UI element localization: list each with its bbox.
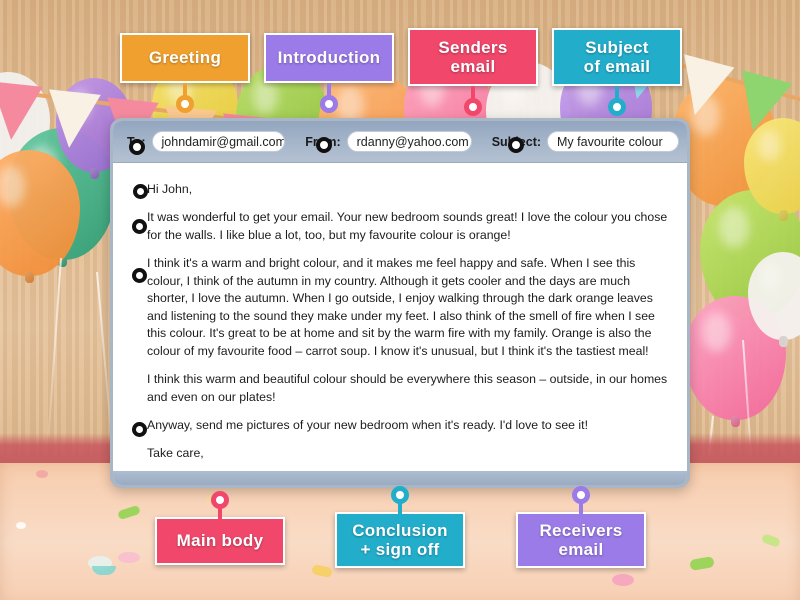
email-conclusion-text: I think this warm and beautiful colour s… — [147, 371, 673, 406]
pin-knob — [320, 95, 338, 113]
drop-target-to-field[interactable] — [129, 139, 145, 155]
label-chip-senders-email[interactable]: Sendersemail — [408, 28, 538, 86]
drop-target-introduction[interactable] — [132, 219, 147, 234]
email-closing-text: Anyway, send me pictures of your new bed… — [147, 417, 673, 434]
confetti-piece — [118, 552, 140, 563]
pin-connector-conclusion-signoff — [391, 486, 409, 516]
label-chip-greeting[interactable]: Greeting — [120, 33, 250, 83]
label-chip-text: Main body — [177, 531, 264, 550]
email-signoff-text: Take care, — [147, 445, 673, 462]
label-chip-text: Receiversemail — [539, 521, 622, 559]
email-body-text: Hi John, It was wonderful to get your em… — [113, 163, 687, 477]
pin-knob — [391, 486, 409, 504]
email-panel: To: johndamir@gmail.com From: rdanny@yah… — [110, 118, 690, 488]
label-chip-text: Subjectof email — [584, 38, 651, 76]
pin-connector-greeting — [176, 83, 194, 113]
email-main-body-text: I think it's a warm and bright colour, a… — [147, 255, 673, 360]
email-greeting-text: Hi John, — [147, 181, 673, 198]
drop-target-subject-field[interactable] — [508, 137, 524, 153]
label-chip-introduction[interactable]: Introduction — [264, 33, 394, 83]
label-chip-subject-of-email[interactable]: Subjectof email — [552, 28, 682, 86]
email-panel-footer — [113, 471, 687, 485]
label-chip-text: Conclusion+ sign off — [352, 521, 448, 559]
label-chip-text: Greeting — [149, 48, 221, 67]
pin-knob — [176, 95, 194, 113]
to-field-input[interactable]: johndamir@gmail.com — [152, 131, 286, 152]
drop-target-main-body[interactable] — [132, 268, 147, 283]
confetti-piece — [16, 522, 26, 529]
bunting-flag-1 — [0, 81, 43, 142]
email-intro-text: It was wonderful to get your email. Your… — [147, 209, 673, 244]
label-chip-text: Introduction — [278, 48, 381, 67]
label-chip-receivers-email[interactable]: Receiversemail — [516, 512, 646, 568]
label-chip-text: Sendersemail — [438, 38, 507, 76]
confetti-piece — [36, 470, 48, 478]
pin-knob — [572, 486, 590, 504]
pin-connector-introduction — [320, 83, 338, 113]
label-chip-main-body[interactable]: Main body — [155, 517, 285, 565]
drop-target-signoff[interactable] — [132, 422, 147, 437]
pin-knob — [464, 98, 482, 116]
bunting-flag-2 — [43, 89, 101, 150]
pin-connector-main-body — [211, 491, 229, 521]
drop-target-from-field[interactable] — [316, 137, 332, 153]
label-chip-conclusion-signoff[interactable]: Conclusion+ sign off — [335, 512, 465, 568]
confetti-piece — [612, 574, 634, 586]
pin-connector-senders-email — [464, 86, 482, 116]
subject-field-input[interactable]: My favourite colour — [547, 131, 679, 152]
pin-connector-receivers-email — [572, 486, 590, 516]
email-header-bar: To: johndamir@gmail.com From: rdanny@yah… — [113, 121, 687, 163]
drop-target-greeting[interactable] — [133, 184, 148, 199]
pin-knob — [211, 491, 229, 509]
pin-connector-subject-of-email — [608, 86, 626, 116]
activity-scene: To: johndamir@gmail.com From: rdanny@yah… — [0, 0, 800, 600]
pin-knob — [608, 98, 626, 116]
from-field-input[interactable]: rdanny@yahoo.com — [347, 131, 472, 152]
